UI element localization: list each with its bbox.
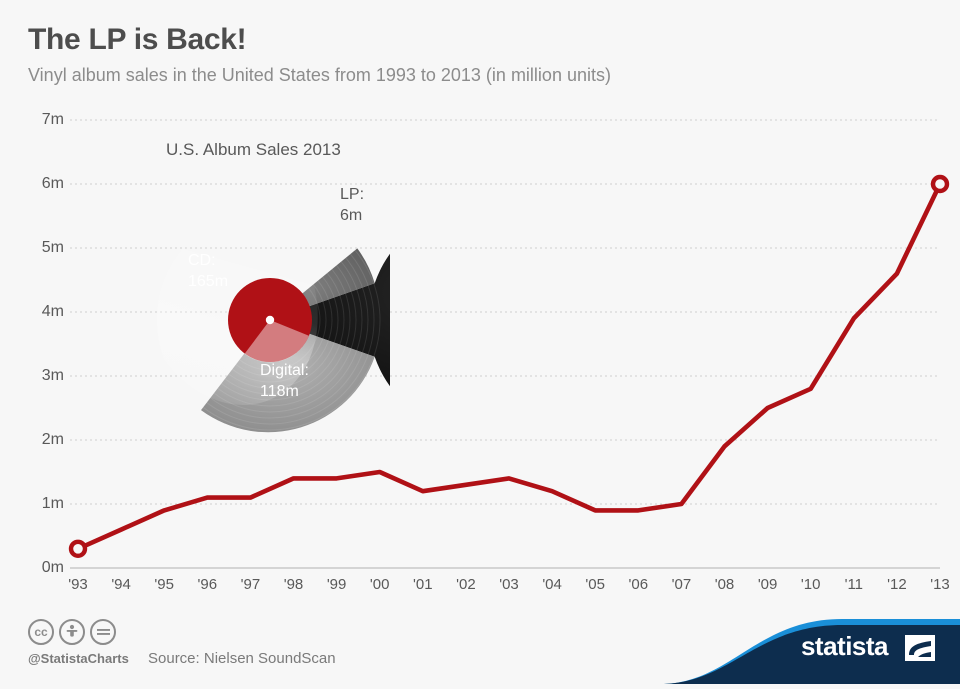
record-label-lp-line2: 6m — [340, 205, 364, 226]
y-axis-tick-label: 5m — [18, 239, 64, 257]
footer: cc @StatistaCharts Source: Nielsen Sound… — [0, 605, 960, 684]
x-axis-tick-label: '10 — [801, 576, 821, 593]
statista-mark-glyph — [905, 635, 935, 661]
no-derivatives-icon — [90, 619, 116, 645]
y-axis-tick-label: 0m — [18, 559, 64, 577]
x-axis-tick-label: '04 — [542, 576, 562, 593]
record-label-digital: Digital: 118m — [260, 360, 309, 402]
statista-logo[interactable]: statista — [660, 605, 960, 684]
cc-icon: cc — [28, 619, 54, 645]
x-axis-tick-label: '09 — [758, 576, 778, 593]
x-axis-tick-label: '13 — [930, 576, 950, 593]
record-label-cd-line2: 165m — [188, 271, 228, 292]
x-axis-tick-label: '06 — [629, 576, 649, 593]
x-axis-tick-label: '12 — [887, 576, 907, 593]
person-glyph — [65, 624, 79, 640]
vinyl-heading: U.S. Album Sales 2013 — [166, 140, 341, 160]
x-axis-tick-label: '94 — [111, 576, 131, 593]
record-label-cd-line1: CD: — [188, 250, 228, 271]
statista-wordmark: statista — [801, 631, 888, 662]
x-axis-tick-label: '02 — [456, 576, 476, 593]
statista-logo-mark — [905, 635, 935, 661]
x-axis-tick-label: '01 — [413, 576, 433, 593]
record-label-lp: LP: 6m — [340, 184, 364, 226]
y-axis-tick-label: 6m — [18, 175, 64, 193]
record-graphic — [150, 200, 390, 440]
x-axis-tick-label: '95 — [154, 576, 174, 593]
x-axis-tick-label: '11 — [845, 576, 863, 593]
creative-commons-icons: cc — [28, 619, 116, 645]
statista-handle: @StatistaCharts — [28, 651, 129, 666]
x-axis: '93'94'95'96'97'98'99'00'01'02'03'04'05'… — [78, 576, 940, 602]
x-axis-tick-label: '99 — [327, 576, 347, 593]
x-axis-tick-label: '97 — [241, 576, 261, 593]
x-axis-tick-label: '98 — [284, 576, 304, 593]
record-label-cd: CD: 165m — [188, 250, 228, 292]
source-note: Source: Nielsen SoundScan — [148, 650, 336, 667]
x-axis-tick-label: '93 — [68, 576, 88, 593]
x-axis-tick-label: '05 — [585, 576, 605, 593]
infographic-canvas: The LP is Back! Vinyl album sales in the… — [0, 0, 960, 684]
series-marker — [71, 542, 85, 556]
x-axis-tick-label: '07 — [672, 576, 692, 593]
y-axis: 0m1m2m3m4m5m6m7m — [18, 0, 64, 684]
y-axis-tick-label: 2m — [18, 431, 64, 449]
y-axis-tick-label: 3m — [18, 367, 64, 385]
record-label-digital-line1: Digital: — [260, 360, 309, 381]
series-marker — [933, 177, 947, 191]
x-axis-tick-label: '96 — [198, 576, 218, 593]
equals-glyph — [96, 627, 111, 637]
y-axis-tick-label: 4m — [18, 303, 64, 321]
record-label-lp-line1: LP: — [340, 184, 364, 205]
record-label-digital-line2: 118m — [260, 381, 309, 402]
x-axis-tick-label: '00 — [370, 576, 390, 593]
attribution-icon — [59, 619, 85, 645]
y-axis-tick-label: 7m — [18, 111, 64, 129]
record-spindle-hole — [266, 316, 274, 324]
record-svg — [150, 200, 390, 440]
x-axis-tick-label: '08 — [715, 576, 735, 593]
y-axis-tick-label: 1m — [18, 495, 64, 513]
x-axis-tick-label: '03 — [499, 576, 519, 593]
